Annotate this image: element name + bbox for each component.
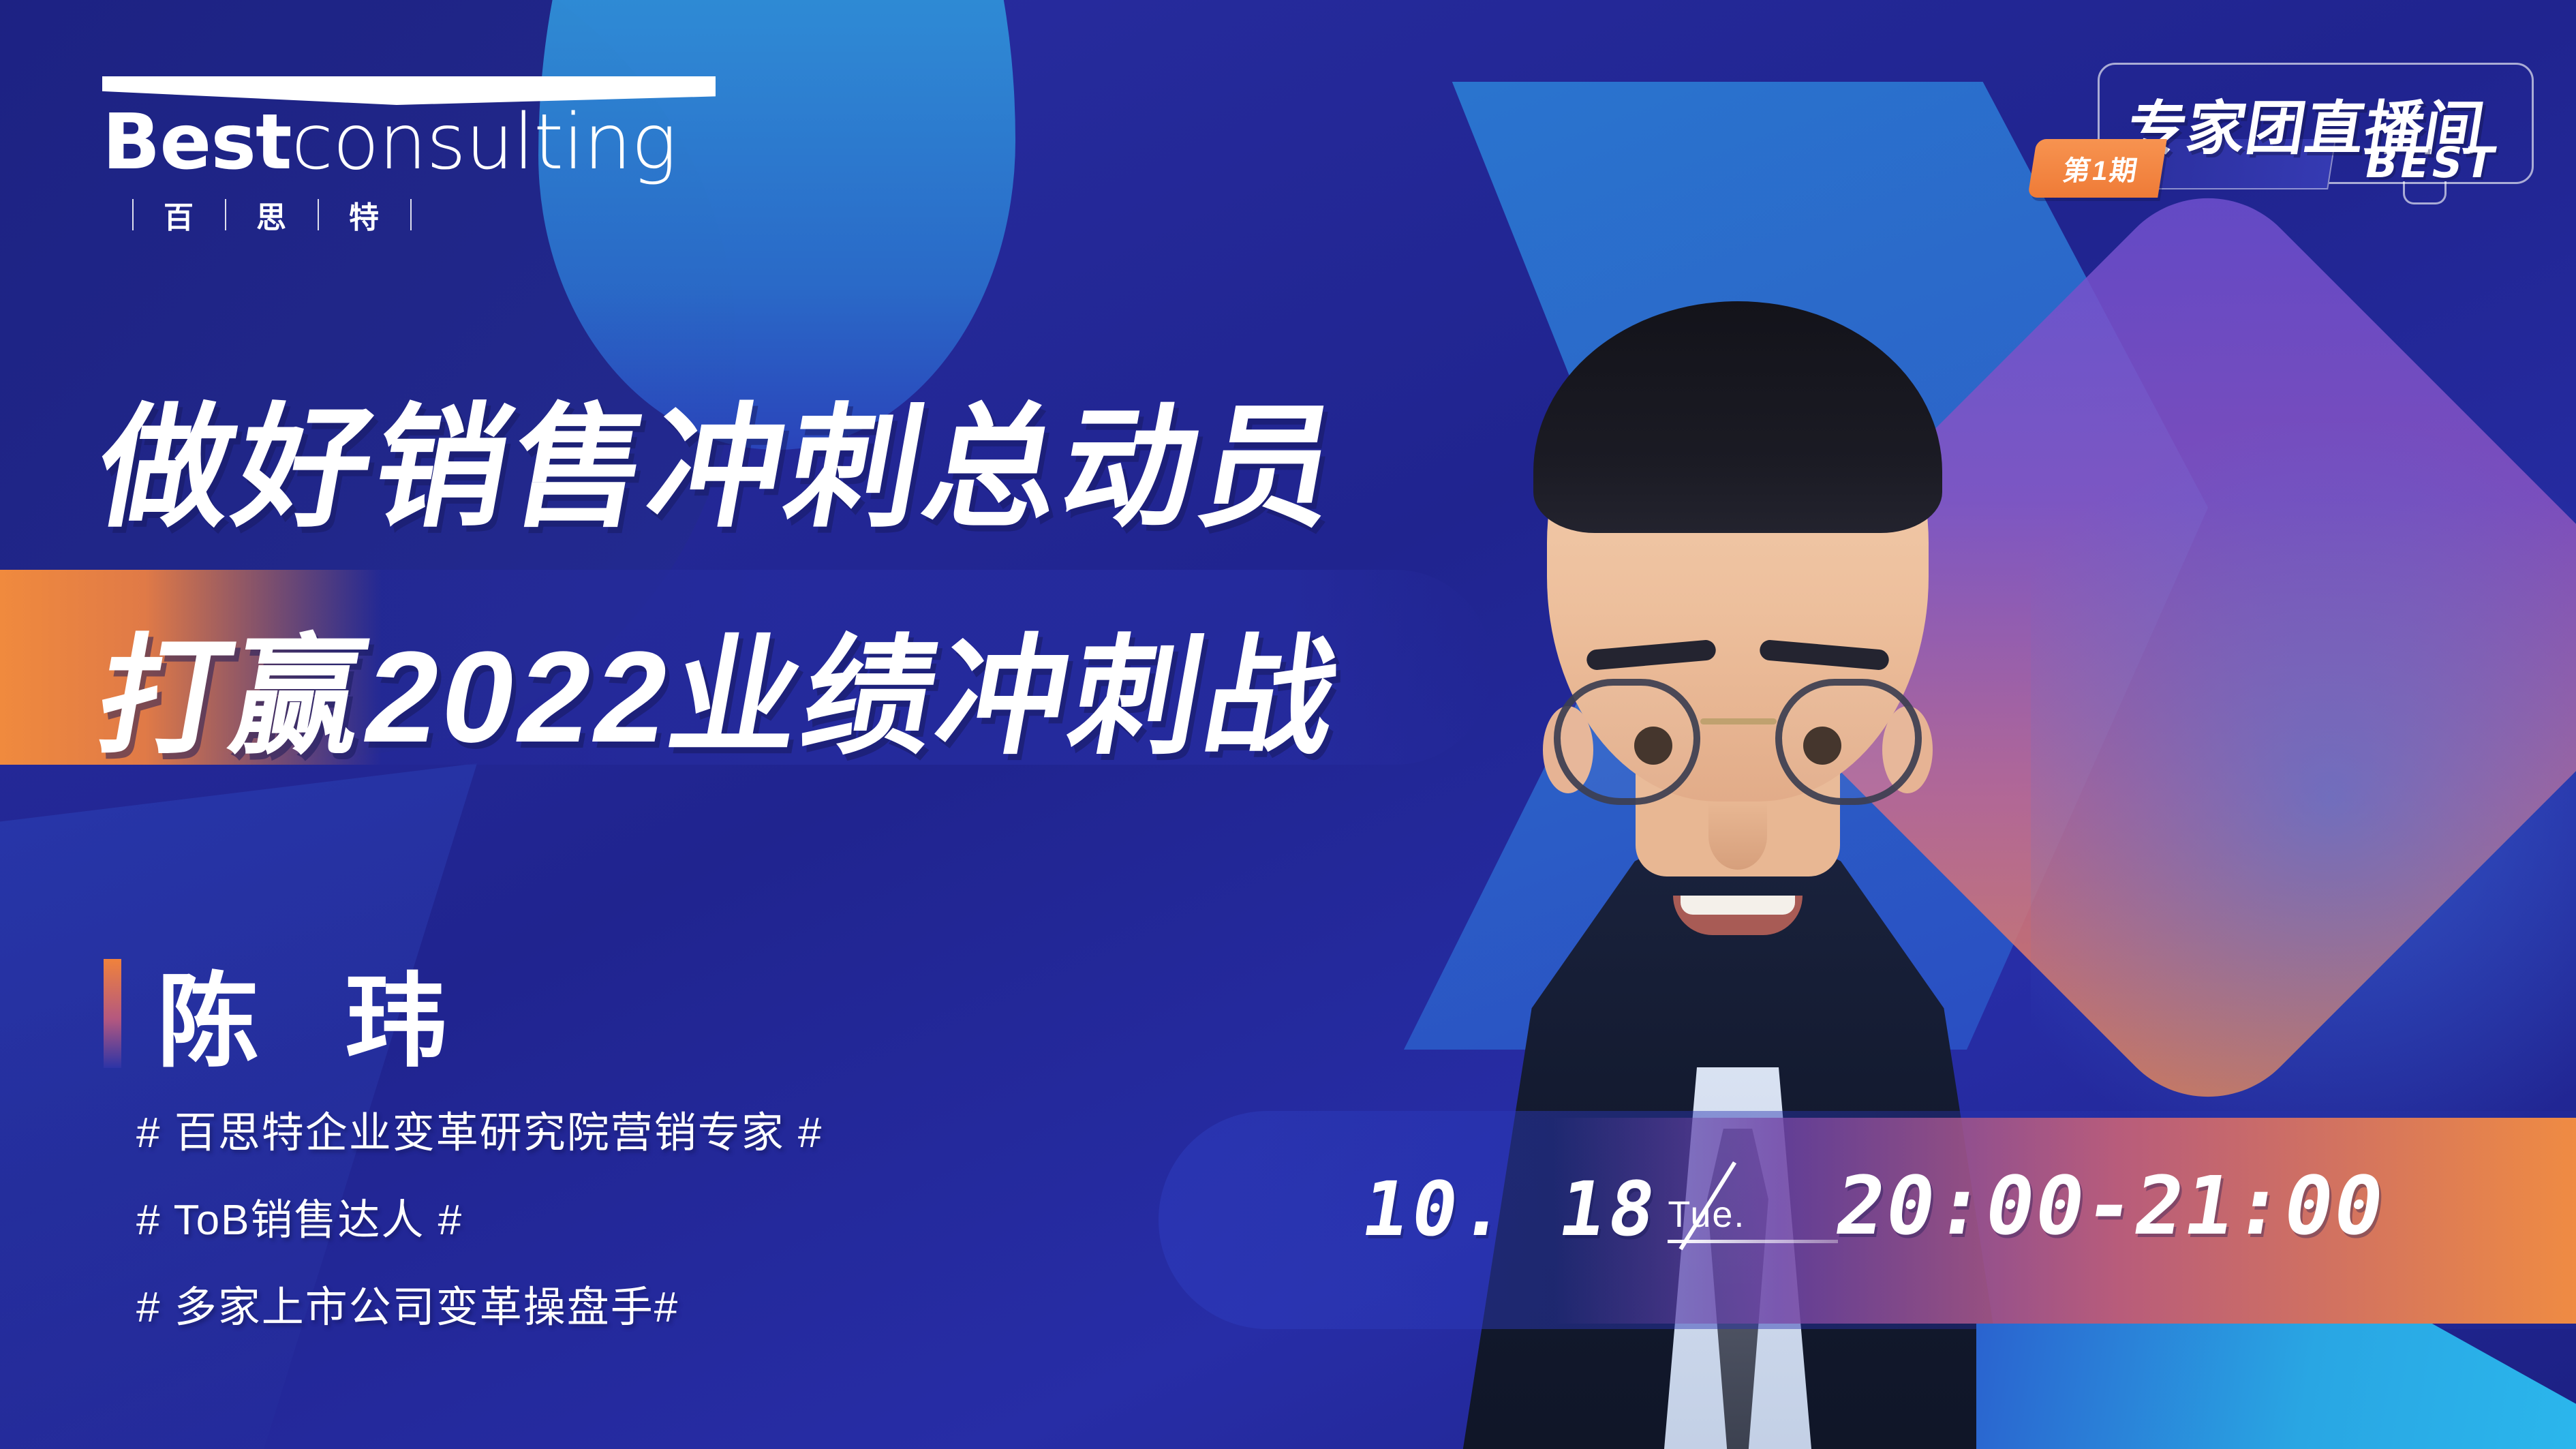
live-stream-promo-poster: Bestconsulting 百 思 特 专家团直播间 第1期 BEST 做好销… <box>0 0 2576 1449</box>
logo-wordmark-light: consulting <box>292 98 677 187</box>
speaker-block: 陈 玮 <box>104 939 456 1087</box>
logo-wordmark-bold: Best <box>102 98 292 187</box>
badge-best-mark: BEST <box>2361 138 2502 187</box>
credential-item-1: # 百思特企业变革研究院营销专家 # <box>136 1112 823 1155</box>
headline-line-2: 打赢2022业绩冲刺战 <box>86 592 1358 779</box>
eyeglass-lens-left <box>1554 679 1700 805</box>
schedule-slash-icon <box>1726 1161 1815 1242</box>
portrait-teeth <box>1681 896 1794 915</box>
credential-item-3: # 多家上市公司变革操盘手# <box>136 1287 823 1329</box>
eyeglass-lens-right <box>1775 679 1922 805</box>
portrait-mouth <box>1673 896 1803 935</box>
speaker-name: 陈 玮 <box>157 939 456 1087</box>
brand-logo: Bestconsulting 百 思 特 <box>102 76 716 237</box>
schedule-row: 10. 18 Tue. 20:00-21:00 <box>1363 1159 2385 1253</box>
eyeglass-bridge <box>1700 718 1777 724</box>
portrait-hair <box>1533 301 1942 533</box>
headline-line-1: 做好销售冲刺总动员 <box>85 360 1358 553</box>
logo-divider-1 <box>225 199 226 230</box>
schedule-time: 20:00-21:00 <box>1829 1159 2391 1253</box>
speaker-credentials-list: # 百思特企业变革研究院营销专家 # # ToB销售达人 # # 多家上市公司变… <box>136 1112 823 1374</box>
speaker-accent-bar <box>104 959 121 1068</box>
portrait-eyeglasses <box>1554 679 1922 808</box>
logo-cn-char-1: 百 <box>164 193 195 237</box>
portrait-eyebrow-left <box>1586 639 1717 671</box>
logo-chinese-name: 百 思 特 <box>102 193 716 237</box>
credential-item-2: # ToB销售达人 # <box>136 1200 823 1242</box>
live-room-badge: 专家团直播间 第1期 BEST <box>2098 63 2534 184</box>
logo-divider-3 <box>410 199 412 230</box>
schedule-date: 10. 18 <box>1356 1165 1666 1253</box>
logo-divider-0 <box>132 199 134 230</box>
portrait-eyebrow-right <box>1759 639 1890 671</box>
logo-divider-2 <box>318 199 319 230</box>
logo-wordmark: Bestconsulting <box>102 102 716 183</box>
logo-cn-char-3: 特 <box>349 193 380 237</box>
logo-cn-char-2: 思 <box>256 193 288 237</box>
portrait-nose <box>1708 802 1767 870</box>
badge-episode-tag: 第1期 <box>2027 139 2167 198</box>
